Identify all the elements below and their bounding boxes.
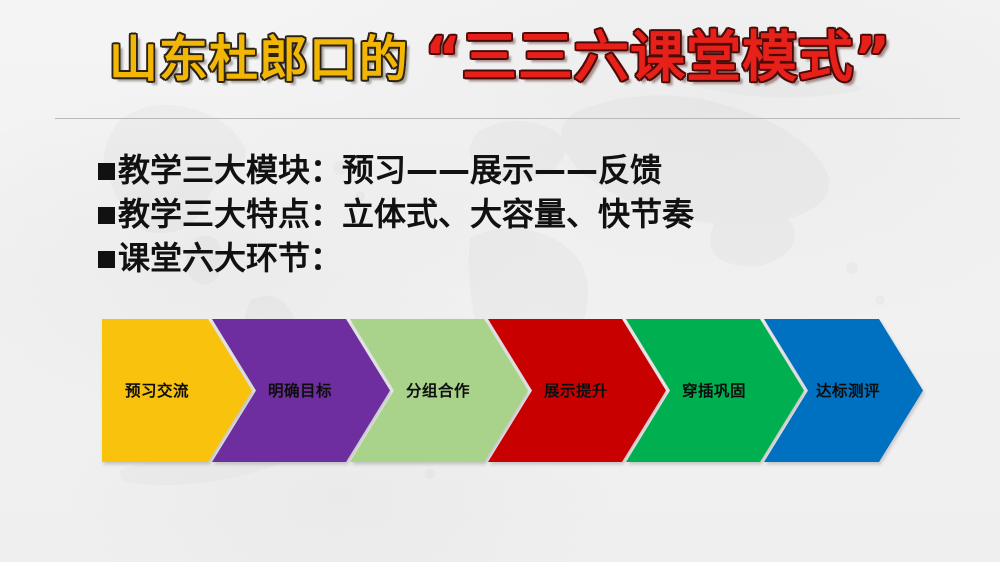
process-step-2-label: 明确目标 [268, 381, 332, 400]
title-divider [55, 118, 960, 119]
title-gold-part: 山东杜郎口的 [109, 32, 409, 88]
bullet-item-steps: 课堂六大环节： [98, 236, 918, 280]
process-step-6-label: 达标测评 [816, 381, 880, 400]
title-red-part: “三三六课堂模式” [425, 26, 891, 89]
bullet-item-modules: 教学三大模块：预习——展示——反馈 [98, 148, 918, 192]
square-bullet-icon [98, 251, 115, 268]
process-step-1-label: 预习交流 [125, 381, 189, 400]
six-step-process-diagram: 预习交流 明确目标 分组合作 展示提升 穿插巩固 [100, 316, 926, 468]
bullet-text: 教学三大特点：立体式、大容量、快节奏 [118, 192, 694, 236]
bullet-item-features: 教学三大特点：立体式、大容量、快节奏 [98, 192, 918, 236]
process-step-3-label: 分组合作 [406, 381, 470, 400]
process-step-5-label: 穿插巩固 [682, 381, 746, 400]
bullet-text: 教学三大模块：预习——展示——反馈 [118, 148, 662, 192]
bullet-list: 教学三大模块：预习——展示——反馈 教学三大特点：立体式、大容量、快节奏 课堂六… [98, 148, 918, 280]
slide-title: 山东杜郎口的“三三六课堂模式” [0, 26, 1000, 89]
bullet-text: 课堂六大环节： [118, 236, 342, 280]
slide-canvas: 山东杜郎口的“三三六课堂模式” 教学三大模块：预习——展示——反馈 教学三大特点… [0, 0, 1000, 562]
square-bullet-icon [98, 163, 115, 180]
square-bullet-icon [98, 207, 115, 224]
process-step-4-label: 展示提升 [544, 382, 608, 400]
